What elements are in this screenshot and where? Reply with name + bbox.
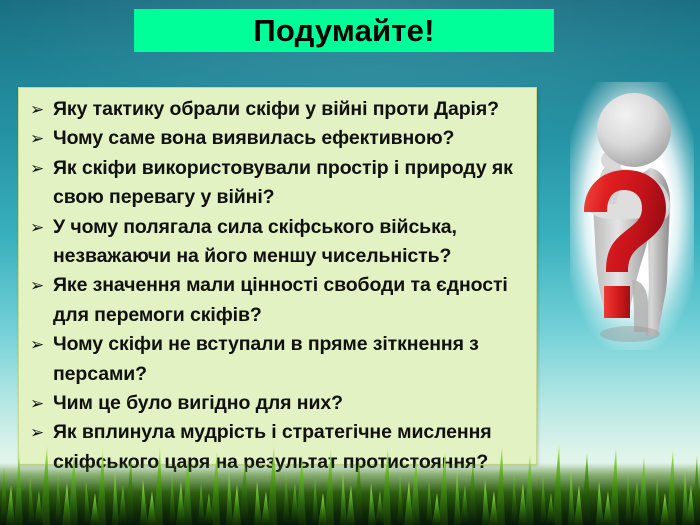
title-banner: Подумайте! xyxy=(134,9,554,52)
question-mark-dot xyxy=(604,286,630,318)
question-list: ➢ Яку тактику обрали скіфи у війні проти… xyxy=(29,95,528,477)
list-item: ➢ Як скіфи використовували простір і при… xyxy=(29,154,528,213)
list-item-text: Чому саме вона виявилась ефективною? xyxy=(53,127,454,149)
grass-decoration xyxy=(0,425,700,525)
question-list-box: ➢ Яку тактику обрали скіфи у війні проти… xyxy=(18,87,537,465)
list-item-text: Як скіфи використовували простір і приро… xyxy=(53,157,513,208)
list-item: ➢ Яку тактику обрали скіфи у війні проти… xyxy=(29,95,528,124)
grass-blades-svg xyxy=(0,425,700,525)
list-item: ➢ Яке значення мали цінності свободи та … xyxy=(29,271,528,330)
arrow-bullet-icon: ➢ xyxy=(30,124,50,153)
arrow-bullet-icon: ➢ xyxy=(30,154,50,183)
list-item: ➢ Чому саме вона виявилась ефективною? xyxy=(29,124,528,153)
arrow-bullet-icon: ➢ xyxy=(30,389,50,418)
figure-front-leg xyxy=(632,280,648,332)
list-item-text: Чим це було вигідно для них? xyxy=(53,392,343,414)
grass-blades-front xyxy=(6,481,695,525)
arrow-bullet-icon: ➢ xyxy=(30,330,50,359)
slide-canvas: Подумайте! xyxy=(0,0,700,525)
arrow-bullet-icon: ➢ xyxy=(30,271,50,300)
thinking-figure-svg xyxy=(564,82,700,350)
list-item: ➢ У чому полягала сила скіфського військ… xyxy=(29,213,528,272)
page-title: Подумайте! xyxy=(253,15,434,46)
list-item: ➢ Чому скіфи не вступали в пряме зіткнен… xyxy=(29,330,528,389)
arrow-bullet-icon: ➢ xyxy=(30,95,50,124)
list-item-text: У чому полягала сила скіфського війська,… xyxy=(53,216,457,267)
list-item: ➢ Чим це було вигідно для них? xyxy=(29,389,528,418)
list-item-text: Чому скіфи не вступали в пряме зіткнення… xyxy=(53,333,479,384)
figure-head xyxy=(597,93,671,167)
list-item-text: Яку тактику обрали скіфи у війні проти Д… xyxy=(53,98,499,120)
thinking-figure-illustration xyxy=(564,82,700,350)
list-item-text: Яке значення мали цінності свободи та єд… xyxy=(53,274,508,325)
arrow-bullet-icon: ➢ xyxy=(30,213,50,242)
figure-shadow xyxy=(600,326,660,342)
